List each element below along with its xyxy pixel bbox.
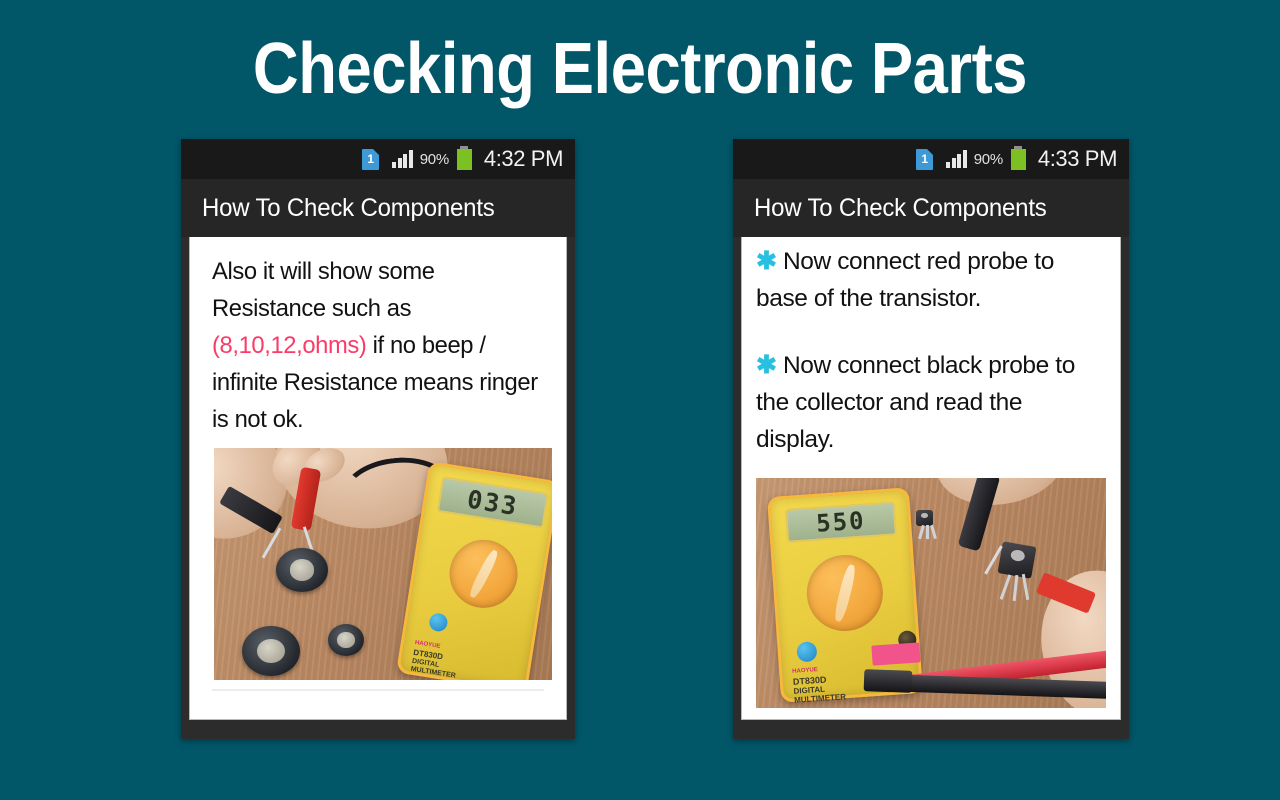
range-selector-dial — [804, 552, 885, 633]
battery-percent-label: 90% — [420, 151, 449, 168]
page-title: Checking Electronic Parts — [77, 26, 1203, 112]
app-title-label: How To Check Components — [754, 194, 1047, 223]
phone-screenshot-right: 1 90% 4:33 PM How To Check Components ✱ … — [733, 139, 1129, 739]
multimeter-reading: 550 — [815, 506, 866, 537]
calibration-knob — [428, 612, 449, 633]
article-body-right: ✱ Now connect red probe to base of the t… — [742, 237, 1120, 708]
article-body-left: Also it will show some Resistance such a… — [190, 237, 566, 680]
battery-icon — [1011, 149, 1026, 170]
multimeter-lcd: 033 — [437, 476, 549, 528]
app-content-right[interactable]: ✱ Now connect red probe to base of the t… — [741, 237, 1121, 720]
range-selector-dial — [445, 535, 523, 613]
app-title-label: How To Check Components — [202, 194, 495, 223]
paragraph-run-highlight: (8,10,12,ohms) — [212, 332, 366, 359]
status-bar-right: 1 90% 4:33 PM — [733, 139, 1129, 179]
multimeter-brand-label: HAOYUE — [792, 667, 818, 675]
app-title-bar-left: How To Check Components — [181, 179, 575, 237]
multimeter-lcd: 550 — [785, 501, 897, 543]
status-clock: 4:33 PM — [1038, 146, 1117, 172]
battery-icon — [457, 149, 472, 170]
multimeter-reading: 033 — [465, 484, 520, 521]
asterisk-bullet-icon: ✱ — [756, 351, 777, 379]
transistor-loose — [916, 510, 933, 526]
phone-screenshot-left: 1 90% 4:32 PM How To Check Components Al… — [181, 139, 575, 739]
app-content-left[interactable]: Also it will show some Resistance such a… — [189, 237, 567, 720]
buzzer-component-loose-large — [242, 626, 300, 676]
app-title-bar-right: How To Check Components — [733, 179, 1129, 237]
transistor-loose-leg-2 — [926, 525, 929, 539]
buzzer-component-under-test — [276, 548, 328, 592]
asterisk-bullet-icon: ✱ — [756, 247, 777, 275]
status-clock: 4:32 PM — [484, 146, 563, 172]
buzzer-component-loose-small — [328, 624, 364, 656]
instruction-step-2-text: Now connect black probe to the collector… — [756, 352, 1075, 453]
instruction-step-1-text: Now connect red probe to base of the tra… — [756, 248, 1054, 312]
black-banana-plug — [864, 669, 913, 693]
article-photo-buzzer-test: 033 HAOYUE DT830D DIGITAL MULTIMETER — [214, 448, 552, 680]
sim-card-icon: 1 — [916, 149, 933, 170]
instruction-step-1: ✱ Now connect red probe to base of the t… — [756, 243, 1106, 317]
instruction-step-2: ✱ Now connect black probe to the collect… — [756, 347, 1106, 458]
article-photo-transistor-test: 550 HAOYUE DT830D DIGITAL MULTIMETER COM — [756, 478, 1106, 708]
transistor-under-test — [997, 541, 1036, 578]
paragraph-resistance: Also it will show some Resistance such a… — [212, 253, 540, 438]
status-bar-left: 1 90% 4:32 PM — [181, 139, 575, 179]
pink-banana-plug — [871, 642, 920, 665]
signal-strength-icon — [946, 150, 967, 168]
battery-percent-label: 90% — [974, 151, 1003, 168]
paragraph-run-1: Also it will show some Resistance such a… — [212, 258, 435, 322]
calibration-knob — [796, 641, 817, 662]
signal-strength-icon — [392, 150, 413, 168]
paragraph-spacer — [756, 317, 1106, 347]
sim-card-icon: 1 — [362, 149, 379, 170]
content-divider — [212, 689, 544, 691]
